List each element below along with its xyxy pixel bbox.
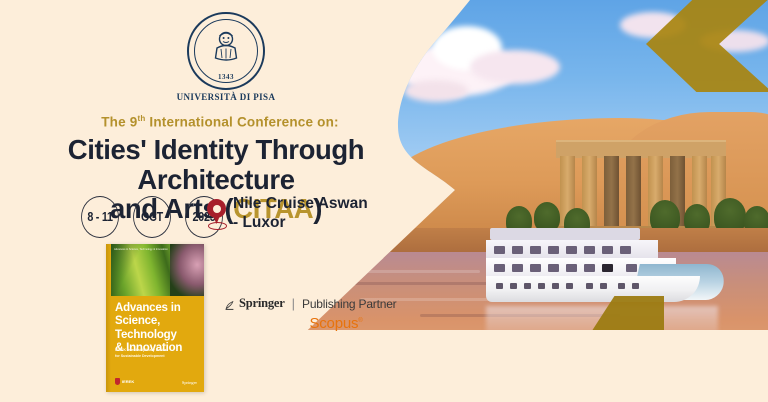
university-logo: 1343 UNIVERSITÀ DI PISA bbox=[176, 12, 276, 108]
springer-wordmark: Springer bbox=[239, 296, 285, 311]
scopus-logo: Scopus® bbox=[224, 315, 404, 332]
venue-line-2: - Luxor bbox=[233, 213, 433, 232]
nile-cruise-ship bbox=[486, 236, 724, 308]
springer-logo-on-book: Springer bbox=[182, 380, 197, 385]
book-editors: Advances in Science, Technology & Innova… bbox=[114, 248, 194, 252]
book-title-line-2: Science, Technology bbox=[115, 315, 201, 342]
university-name: UNIVERSITÀ DI PISA bbox=[176, 92, 276, 102]
book-spine bbox=[106, 244, 111, 392]
book-cover-artwork: Advances in Science, Technology & Innova… bbox=[106, 244, 204, 296]
crest-year: 1343 bbox=[187, 73, 265, 81]
cloud bbox=[470, 50, 560, 84]
eyebrow-suffix: International Conference on: bbox=[145, 115, 338, 130]
book-subtitle-line-2: for Sustainable Development bbox=[115, 354, 195, 360]
book-subtitle: IEREK Interdisciplinary Series for Susta… bbox=[115, 348, 195, 360]
event-venue: Nile Cruise Aswan - Luxor bbox=[233, 194, 433, 233]
content-panel: 1343 UNIVERSITÀ DI PISA The 9th Internat… bbox=[0, 0, 440, 402]
title-line-1: Cities' Identity Through Architecture bbox=[0, 135, 432, 194]
crest-figure-icon bbox=[211, 28, 241, 68]
event-days-badge: 8 - 11 bbox=[81, 196, 119, 238]
springer-knight-icon bbox=[224, 298, 235, 309]
ierek-logo-icon: IEREK bbox=[115, 378, 134, 385]
conference-banner: 1343 UNIVERSITÀ DI PISA The 9th Internat… bbox=[0, 0, 768, 402]
partner-divider: | bbox=[292, 296, 295, 311]
conference-eyebrow: The 9th International Conference on: bbox=[0, 114, 440, 130]
venue-line-1: Nile Cruise Aswan bbox=[233, 194, 433, 213]
publishing-partner-label: Publishing Partner bbox=[302, 297, 396, 311]
book-title-line-1: Advances in bbox=[115, 302, 201, 315]
scopus-wordmark: Scopus bbox=[309, 315, 358, 332]
publishing-partners: Springer | Publishing Partner Scopus® bbox=[224, 296, 404, 332]
book-cover: Advances in Science, Technology & Innova… bbox=[106, 244, 204, 392]
event-details: 8 - 11 OCT 2025 Nile Cruise Aswan - Luxo… bbox=[78, 196, 438, 242]
pisa-crest-icon: 1343 bbox=[187, 12, 265, 90]
ierek-logo-text: IEREK bbox=[122, 379, 134, 384]
springer-partner-row: Springer | Publishing Partner bbox=[224, 296, 404, 311]
map-pin-icon bbox=[206, 199, 228, 229]
event-month-badge: OCT bbox=[133, 196, 171, 238]
scopus-trademark: ® bbox=[358, 318, 362, 324]
eyebrow-prefix: The 9 bbox=[101, 115, 137, 130]
